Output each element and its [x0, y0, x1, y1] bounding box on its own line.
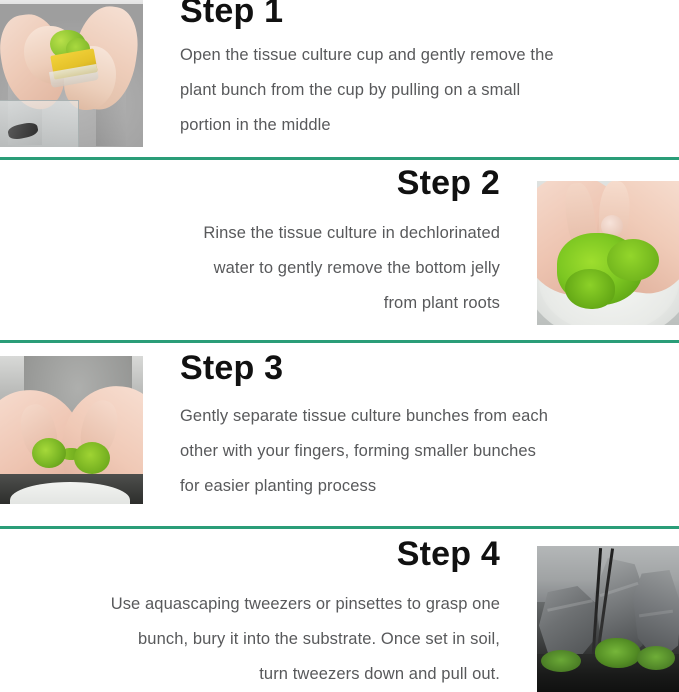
- step-2-body-line-1: Rinse the tissue culture in dechlorinate…: [40, 216, 500, 251]
- step-row-1: Step 1 Open the tissue culture cup and g…: [0, 0, 679, 157]
- planted-green-bunch-left: [541, 650, 581, 672]
- step-4-photo: [537, 546, 679, 692]
- step-row-4: Step 4 Use aquascaping tweezers or pinse…: [0, 529, 679, 692]
- photo-rinsing-tissue-culture: [537, 181, 679, 325]
- step-4-body-line-1: Use aquascaping tweezers or pinsettes to…: [40, 587, 500, 622]
- step-4-heading: Step 4: [40, 537, 500, 573]
- step-3-body-line-1: Gently separate tissue culture bunches f…: [180, 399, 620, 434]
- step-row-2: Step 2 Rinse the tissue culture in dechl…: [0, 160, 679, 340]
- step-1-body: Open the tissue culture cup and gently r…: [180, 38, 620, 143]
- green-plant-bottom: [565, 269, 615, 309]
- step-2-body-line-3: from plant roots: [40, 286, 500, 321]
- aquarium-tank: [0, 100, 79, 147]
- step-3-body-line-3: for easier planting process: [180, 469, 620, 504]
- step-3-body: Gently separate tissue culture bunches f…: [180, 399, 620, 504]
- step-2-photo: [537, 181, 679, 325]
- photo-person-opening-cup: [0, 0, 143, 147]
- step-1-photo: [0, 0, 143, 147]
- step-3-photo: [0, 356, 143, 504]
- green-bunch-right: [74, 442, 110, 474]
- step-3-heading: Step 3: [180, 351, 620, 387]
- step-4-body: Use aquascaping tweezers or pinsettes to…: [40, 587, 500, 692]
- step-row-3: Step 3 Gently separate tissue culture bu…: [0, 343, 679, 526]
- step-3-body-line-2: other with your fingers, forming smaller…: [180, 434, 620, 469]
- step-1-heading: Step 1: [180, 0, 620, 30]
- step-1-text-block: Step 1 Open the tissue culture cup and g…: [180, 0, 620, 143]
- step-2-text-block: Step 2 Rinse the tissue culture in dechl…: [40, 166, 500, 321]
- step-1-body-line-2: plant bunch from the cup by pulling on a…: [180, 73, 620, 108]
- step-2-heading: Step 2: [40, 166, 500, 202]
- step-1-body-line-3: portion in the middle: [180, 108, 620, 143]
- step-3-text-block: Step 3 Gently separate tissue culture bu…: [180, 351, 620, 504]
- green-bunch-left: [32, 438, 66, 468]
- step-2-body: Rinse the tissue culture in dechlorinate…: [40, 216, 500, 321]
- step-4-body-line-3: turn tweezers down and pull out.: [40, 657, 500, 692]
- steps-infographic: Step 1 Open the tissue culture cup and g…: [0, 0, 679, 683]
- planted-green-bunch-center: [595, 638, 641, 668]
- step-1-body-line-1: Open the tissue culture cup and gently r…: [180, 38, 620, 73]
- photo-aquascape-planting: [537, 546, 679, 692]
- green-plant-right: [607, 239, 659, 281]
- photo-separating-bunches: [0, 356, 143, 504]
- planted-green-bunch-right: [637, 646, 675, 670]
- step-4-text-block: Step 4 Use aquascaping tweezers or pinse…: [40, 537, 500, 692]
- step-2-body-line-2: water to gently remove the bottom jelly: [40, 251, 500, 286]
- step-4-body-line-2: bunch, bury it into the substrate. Once …: [40, 622, 500, 657]
